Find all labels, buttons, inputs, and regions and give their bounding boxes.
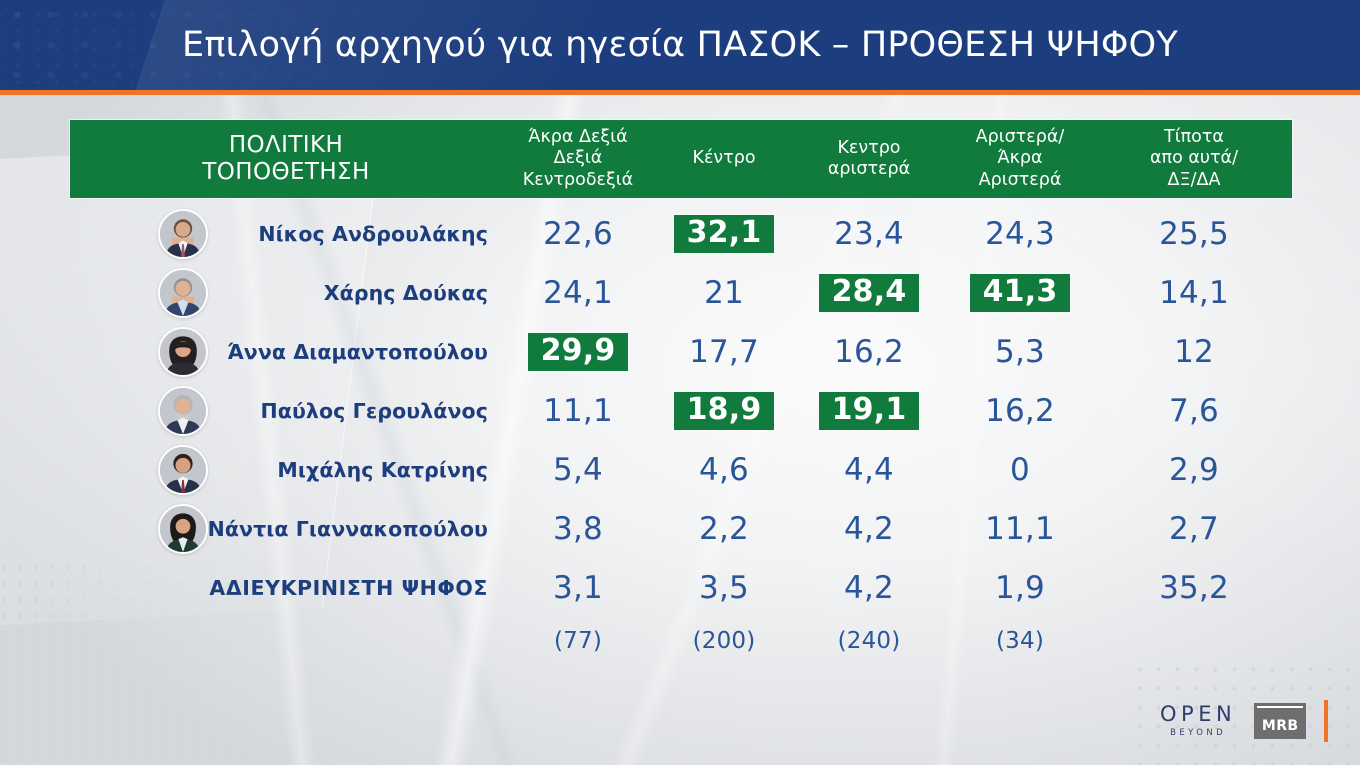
cell: 18,9 <box>654 381 794 440</box>
cell: 4,6 <box>654 440 794 499</box>
value: 7,6 <box>1169 393 1219 429</box>
row-label-cell <box>70 617 502 665</box>
value: 16,2 <box>985 393 1055 429</box>
table-header-row: ΠΟΛΙΤΙΚΗ ΤΟΠΟΘΕΤΗΣΗ Άκρα Δεξιά Δεξιά Κεν… <box>70 120 1292 198</box>
table-row: ΑΔΙΕΥΚΡΙΝΙΣΤΗ ΨΗΦΟΣ 3,1 3,5 4,2 1,9 35,2 <box>70 558 1292 617</box>
sample-size: (34) <box>996 628 1044 654</box>
cell: 16,2 <box>944 381 1096 440</box>
cell: 4,4 <box>794 440 944 499</box>
poll-table: ΠΟΛΙΤΙΚΗ ΤΟΠΟΘΕΤΗΣΗ Άκρα Δεξιά Δεξιά Κεν… <box>70 120 1292 665</box>
table-row: Χάρης Δούκας 24,1 21 28,4 41,3 14,1 <box>70 263 1292 322</box>
orange-accent-bar <box>1324 700 1328 742</box>
cell: 23,4 <box>794 204 944 263</box>
cell: 12 <box>1096 322 1292 381</box>
value: 2,9 <box>1169 452 1219 488</box>
cell: 3,8 <box>502 499 654 558</box>
column-header-line: Δεξιά <box>523 148 633 169</box>
row-label-cell: Χάρης Δούκας <box>70 263 502 322</box>
avatar <box>158 445 208 495</box>
value: 2,7 <box>1169 511 1219 547</box>
mrb-logo: MRB <box>1254 703 1306 739</box>
cell <box>1096 617 1292 665</box>
cell: 24,3 <box>944 204 1096 263</box>
column-header-line: Άκρα <box>976 148 1065 169</box>
cell: 28,4 <box>794 263 944 322</box>
value-highlighted: 28,4 <box>819 274 920 312</box>
cell: (240) <box>794 617 944 665</box>
column-header-line: Κεντροδεξιά <box>523 170 633 191</box>
sample-size: (240) <box>838 628 901 654</box>
table-row: Παύλος Γερουλάνος 11,1 18,9 19,1 16,2 7,… <box>70 381 1292 440</box>
cell: 21 <box>654 263 794 322</box>
column-header-left: Αριστερά/ Άκρα Αριστερά <box>944 120 1096 198</box>
value-highlighted: 41,3 <box>970 274 1071 312</box>
row-label-cell: Νάντια Γιαννακοπούλου <box>70 499 502 558</box>
avatar <box>158 327 208 377</box>
cell: 22,6 <box>502 204 654 263</box>
row-label: Μιχάλης Κατρίνης <box>277 458 488 482</box>
cell: 29,9 <box>502 322 654 381</box>
table-row: Μιχάλης Κατρίνης 5,4 4,6 4,4 0 2,9 <box>70 440 1292 499</box>
column-header-line: Κέντρο <box>692 148 755 169</box>
value: 16,2 <box>834 334 904 370</box>
value: 23,4 <box>834 216 904 252</box>
cell: 7,6 <box>1096 381 1292 440</box>
value: 2,2 <box>699 511 749 547</box>
mrb-logo-text: MRB <box>1257 718 1303 736</box>
row-label-cell: Παύλος Γερουλάνος <box>70 381 502 440</box>
cell: 0 <box>944 440 1096 499</box>
cell: 5,4 <box>502 440 654 499</box>
value: 22,6 <box>543 216 613 252</box>
value-highlighted: 32,1 <box>674 215 775 253</box>
row-header-line1: ΠΟΛΙΤΙΚΗ <box>202 132 369 159</box>
sample-size-row: (77) (200) (240) (34) <box>70 617 1292 665</box>
value: 0 <box>1010 452 1030 488</box>
value: 4,6 <box>699 452 749 488</box>
row-label: Άννα Διαμαντοπούλου <box>227 340 488 364</box>
table-row: Νίκος Ανδρουλάκης 22,6 32,1 23,4 24,3 25… <box>70 204 1292 263</box>
cell: (200) <box>654 617 794 665</box>
value: 17,7 <box>689 334 759 370</box>
page-title: Επιλογή αρχηγού για ηγεσία ΠΑΣΟΚ – ΠΡΟΘΕ… <box>0 0 1360 90</box>
cell: (34) <box>944 617 1096 665</box>
value: 11,1 <box>543 393 613 429</box>
avatar <box>158 504 208 554</box>
orange-divider <box>0 90 1360 95</box>
value: 3,5 <box>699 570 749 606</box>
cell: 14,1 <box>1096 263 1292 322</box>
value-highlighted: 19,1 <box>819 392 920 430</box>
avatar <box>158 386 208 436</box>
value: 4,4 <box>844 452 894 488</box>
column-header-line: Αριστερά <box>976 170 1065 191</box>
open-logo-subtitle: BEYOND <box>1160 729 1236 738</box>
value: 1,9 <box>995 570 1045 606</box>
value: 5,3 <box>995 334 1045 370</box>
column-header-centre: Κέντρο <box>654 120 794 198</box>
open-logo-word: OPEN <box>1160 704 1236 725</box>
value: 35,2 <box>1159 570 1229 606</box>
row-label-cell: Άννα Διαμαντοπούλου <box>70 322 502 381</box>
value-highlighted: 29,9 <box>528 333 629 371</box>
cell: 17,7 <box>654 322 794 381</box>
column-header-political-placement: ΠΟΛΙΤΙΚΗ ΤΟΠΟΘΕΤΗΣΗ <box>70 120 502 198</box>
cell: 41,3 <box>944 263 1096 322</box>
cell: 5,3 <box>944 322 1096 381</box>
cell: 35,2 <box>1096 558 1292 617</box>
value-highlighted: 18,9 <box>674 392 775 430</box>
column-header-line: Άκρα Δεξιά <box>523 127 633 148</box>
cell: 3,5 <box>654 558 794 617</box>
row-label-cell: Μιχάλης Κατρίνης <box>70 440 502 499</box>
cell: 2,7 <box>1096 499 1292 558</box>
cell: 25,5 <box>1096 204 1292 263</box>
row-label-cell: Νίκος Ανδρουλάκης <box>70 204 502 263</box>
column-header-line: απο αυτά/ <box>1150 148 1238 169</box>
value: 4,2 <box>844 570 894 606</box>
value: 24,3 <box>985 216 1055 252</box>
value: 11,1 <box>985 511 1055 547</box>
footer-logos: OPEN BEYOND MRB <box>1160 700 1328 742</box>
row-label: Νάντια Γιαννακοπούλου <box>208 517 488 541</box>
cell: 3,1 <box>502 558 654 617</box>
row-label: Χάρης Δούκας <box>324 281 488 305</box>
cell: 2,9 <box>1096 440 1292 499</box>
row-header-line2: ΤΟΠΟΘΕΤΗΣΗ <box>202 159 369 186</box>
cell: (77) <box>502 617 654 665</box>
cell: 11,1 <box>944 499 1096 558</box>
open-beyond-logo: OPEN BEYOND <box>1160 704 1236 738</box>
column-header-line: Τίποτα <box>1150 127 1238 148</box>
cell: 1,9 <box>944 558 1096 617</box>
infographic-slide: Επιλογή αρχηγού για ηγεσία ΠΑΣΟΚ – ΠΡΟΘΕ… <box>0 0 1360 765</box>
value: 14,1 <box>1159 275 1229 311</box>
column-header-line: ΔΞ/ΔΑ <box>1150 170 1238 191</box>
avatar <box>158 209 208 259</box>
value: 24,1 <box>543 275 613 311</box>
row-label: ΑΔΙΕΥΚΡΙΝΙΣΤΗ ΨΗΦΟΣ <box>209 576 488 600</box>
value: 25,5 <box>1159 216 1229 252</box>
column-header-centre-left: Κεντρο αριστερά <box>794 120 944 198</box>
table-row: Νάντια Γιαννακοπούλου 3,8 2,2 4,2 11,1 2… <box>70 499 1292 558</box>
column-header-far-right: Άκρα Δεξιά Δεξιά Κεντροδεξιά <box>502 120 654 198</box>
sample-size: (77) <box>554 628 602 654</box>
cell: 32,1 <box>654 204 794 263</box>
row-label-cell: ΑΔΙΕΥΚΡΙΝΙΣΤΗ ΨΗΦΟΣ <box>70 558 502 617</box>
cell: 4,2 <box>794 558 944 617</box>
table-body: Νίκος Ανδρουλάκης 22,6 32,1 23,4 24,3 25… <box>70 198 1292 665</box>
cell: 24,1 <box>502 263 654 322</box>
value: 4,2 <box>844 511 894 547</box>
value: 5,4 <box>553 452 603 488</box>
column-header-line: Αριστερά/ <box>976 127 1065 148</box>
cell: 16,2 <box>794 322 944 381</box>
cell: 11,1 <box>502 381 654 440</box>
value: 3,1 <box>553 570 603 606</box>
value: 12 <box>1174 334 1214 370</box>
column-header-line: Κεντρο <box>828 138 910 159</box>
column-header-line: αριστερά <box>828 159 910 180</box>
title-bar: Επιλογή αρχηγού για ηγεσία ΠΑΣΟΚ – ΠΡΟΘΕ… <box>0 0 1360 90</box>
row-label: Παύλος Γερουλάνος <box>261 399 488 423</box>
row-label: Νίκος Ανδρουλάκης <box>258 222 488 246</box>
mrb-logo-bar <box>1257 706 1303 715</box>
sample-size: (200) <box>693 628 756 654</box>
column-header-none-of-these: Τίποτα απο αυτά/ ΔΞ/ΔΑ <box>1096 120 1292 198</box>
avatar <box>158 268 208 318</box>
value: 21 <box>704 275 744 311</box>
cell: 4,2 <box>794 499 944 558</box>
value: 3,8 <box>553 511 603 547</box>
cell: 2,2 <box>654 499 794 558</box>
table-row: Άννα Διαμαντοπούλου 29,9 17,7 16,2 5,3 1… <box>70 322 1292 381</box>
cell: 19,1 <box>794 381 944 440</box>
